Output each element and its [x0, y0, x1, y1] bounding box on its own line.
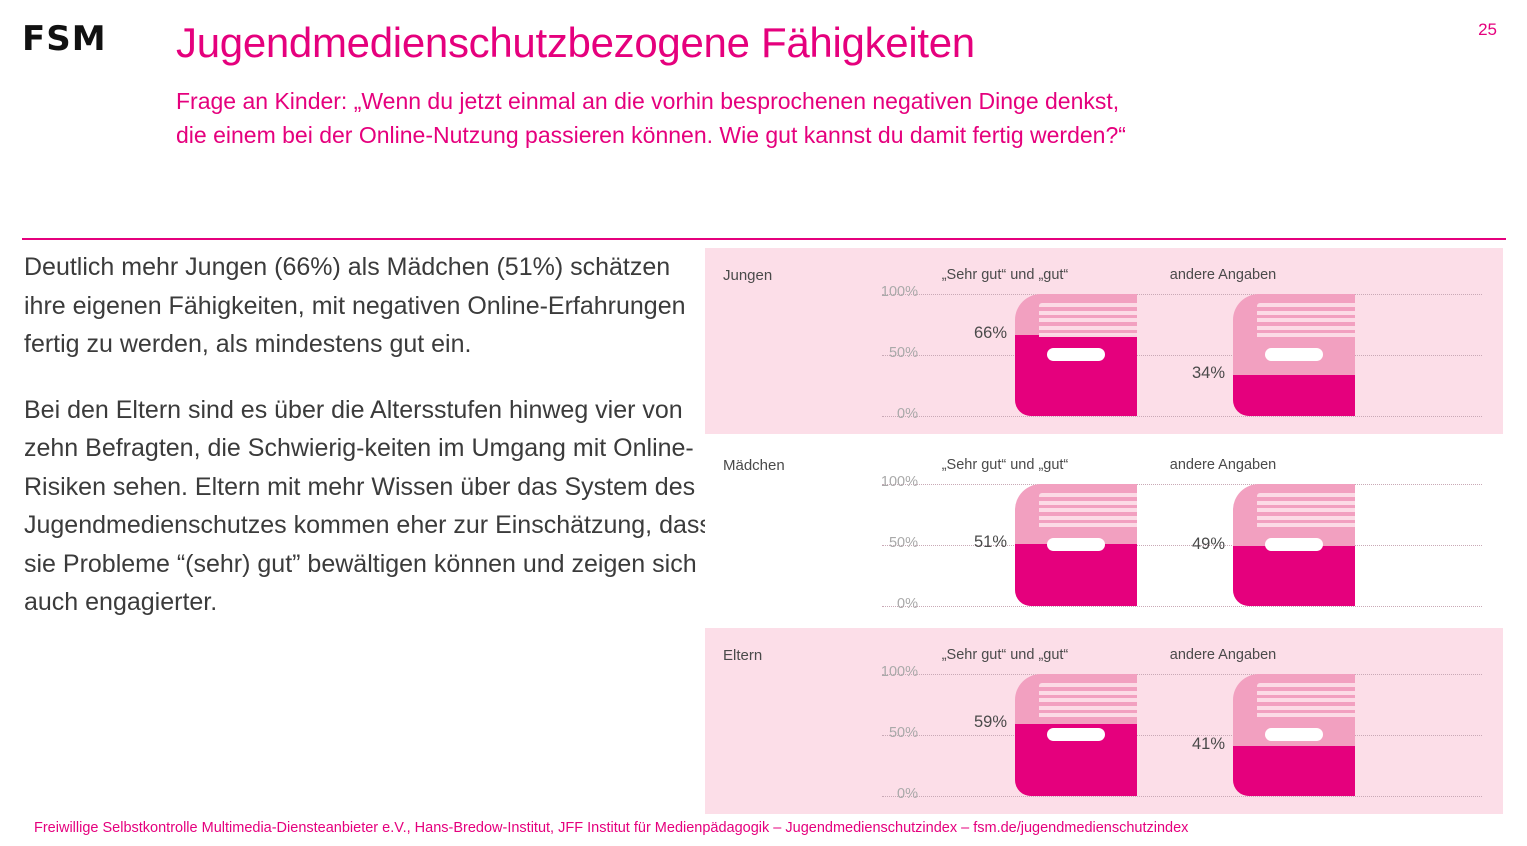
plot-area: 100%50%0%51%49%: [860, 484, 1490, 606]
book-page-lines-icon: [1039, 683, 1137, 717]
y-axis-tick-label: 50%: [850, 725, 918, 741]
chart-column-header: andere Angaben: [1170, 267, 1276, 283]
chart-bar: [1015, 674, 1137, 796]
book-page-lines-icon: [1039, 493, 1137, 527]
panel-group-label: Eltern: [723, 647, 762, 664]
book-page-lines-icon: [1257, 683, 1355, 717]
y-axis-tick-label: 100%: [850, 664, 918, 680]
y-axis-tick-label: 100%: [850, 284, 918, 300]
chart-panel-mädchen: Mädchen„Sehr gut“ und „gut“andere Angabe…: [705, 438, 1503, 624]
book-icon: [1233, 674, 1355, 796]
bar-fill: [1233, 546, 1355, 606]
y-axis-tick-label: 0%: [850, 406, 918, 422]
y-axis-tick-label: 100%: [850, 474, 918, 490]
y-axis-tick-label: 0%: [850, 596, 918, 612]
page-title: Jugendmedienschutzbezogene Fähigkeiten: [176, 20, 1426, 65]
plot-area: 100%50%0%59%41%: [860, 674, 1490, 796]
book-page-lines-icon: [1257, 493, 1355, 527]
body-text: Deutlich mehr Jungen (66%) als Mädchen (…: [24, 248, 714, 649]
footer-source: Freiwillige Selbstkontrolle Multimedia-D…: [34, 820, 1188, 836]
chart-bar: [1233, 674, 1355, 796]
chart-panel-jungen: Jungen„Sehr gut“ und „gut“andere Angaben…: [705, 248, 1503, 434]
chart-area: Jungen„Sehr gut“ und „gut“andere Angaben…: [705, 248, 1503, 808]
fsm-logo: FSM: [22, 22, 107, 56]
gridline-0: [882, 606, 1482, 607]
bar-value-label: 59%: [953, 713, 1007, 732]
chart-bar: [1015, 484, 1137, 606]
book-label-band: [1047, 728, 1105, 741]
book-label-band: [1047, 348, 1105, 361]
chart-column-header: andere Angaben: [1170, 457, 1276, 473]
bar-fill: [1015, 544, 1137, 606]
gridline-100: [882, 294, 1482, 295]
book-page-lines-icon: [1257, 303, 1355, 337]
panel-group-label: Mädchen: [723, 457, 785, 474]
book-page-lines-icon: [1039, 303, 1137, 337]
bar-fill: [1233, 746, 1355, 796]
book-icon: [1015, 484, 1137, 606]
chart-column-header: „Sehr gut“ und „gut“: [942, 267, 1069, 283]
header-divider: [22, 238, 1506, 240]
y-axis-tick-label: 0%: [850, 786, 918, 802]
book-icon: [1015, 294, 1137, 416]
book-label-band: [1265, 728, 1323, 741]
bar-value-label: 34%: [1171, 364, 1225, 383]
book-label-band: [1047, 538, 1105, 551]
bar-value-label: 66%: [953, 324, 1007, 343]
bar-fill: [1233, 375, 1355, 416]
page-number: 25: [1478, 20, 1497, 40]
chart-column-header: andere Angaben: [1170, 647, 1276, 663]
chart-bar: [1233, 294, 1355, 416]
gridline-0: [882, 796, 1482, 797]
book-icon: [1233, 484, 1355, 606]
panel-group-label: Jungen: [723, 267, 772, 284]
chart-panel-eltern: Eltern„Sehr gut“ und „gut“andere Angaben…: [705, 628, 1503, 814]
y-axis-tick-label: 50%: [850, 535, 918, 551]
book-label-band: [1265, 538, 1323, 551]
body-paragraph-1: Deutlich mehr Jungen (66%) als Mädchen (…: [24, 248, 714, 364]
body-paragraph-2: Bei den Eltern sind es über die Altersst…: [24, 391, 714, 622]
chart-column-header: „Sehr gut“ und „gut“: [942, 647, 1069, 663]
bar-value-label: 41%: [1171, 735, 1225, 754]
bar-value-label: 51%: [953, 533, 1007, 552]
gridline-100: [882, 484, 1482, 485]
plot-area: 100%50%0%66%34%: [860, 294, 1490, 416]
bar-value-label: 49%: [1171, 535, 1225, 554]
chart-column-header: „Sehr gut“ und „gut“: [942, 457, 1069, 473]
chart-bar: [1015, 294, 1137, 416]
y-axis-tick-label: 50%: [850, 345, 918, 361]
chart-bar: [1233, 484, 1355, 606]
slide: FSM 25 Jugendmedienschutzbezogene Fähigk…: [0, 0, 1527, 846]
gridline-0: [882, 416, 1482, 417]
book-icon: [1233, 294, 1355, 416]
gridline-50: [882, 355, 1482, 356]
book-icon: [1015, 674, 1137, 796]
book-label-band: [1265, 348, 1323, 361]
gridline-100: [882, 674, 1482, 675]
page-subtitle: Frage an Kinder: „Wenn du jetzt einmal a…: [176, 84, 1136, 152]
